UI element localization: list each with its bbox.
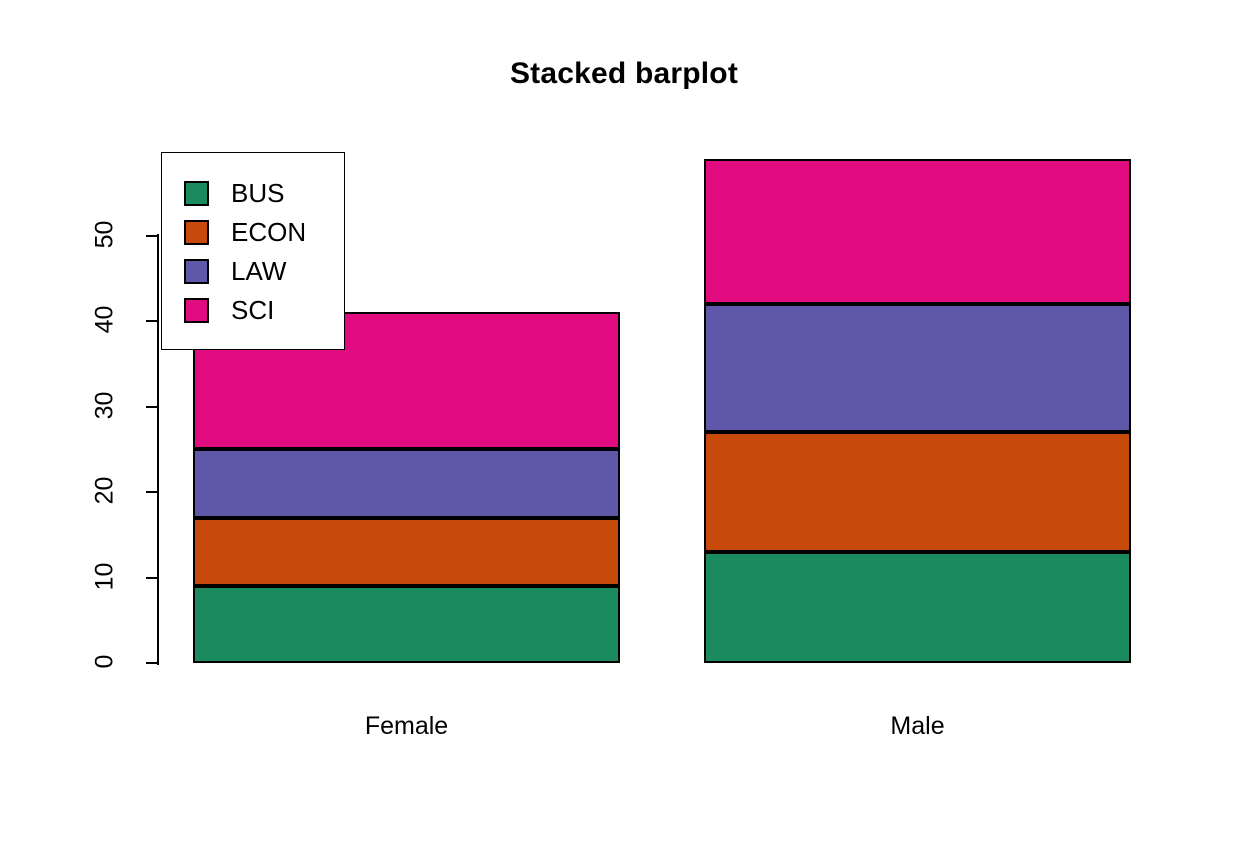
bar-segment-female-bus	[193, 586, 620, 663]
y-tick-label-20: 20	[91, 471, 120, 511]
y-tick-40	[146, 320, 157, 322]
bar-segment-male-bus	[704, 552, 1131, 663]
legend-item-econ[interactable]: ECON	[184, 212, 306, 252]
y-axis-line	[157, 234, 159, 665]
y-tick-50	[146, 235, 157, 237]
legend-swatch-sci-icon	[184, 298, 209, 323]
legend-label-econ: ECON	[231, 219, 306, 245]
y-tick-30	[146, 406, 157, 408]
x-axis-label-female: Female	[193, 712, 620, 741]
y-tick-label-0: 0	[91, 642, 120, 682]
legend: BUSECONLAWSCI	[161, 152, 345, 350]
y-tick-label-10: 10	[91, 556, 120, 596]
legend-item-law[interactable]: LAW	[184, 251, 286, 291]
y-tick-label-50: 50	[91, 214, 120, 254]
legend-label-bus: BUS	[231, 180, 284, 206]
legend-swatch-law-icon	[184, 259, 209, 284]
legend-item-sci[interactable]: SCI	[184, 290, 274, 330]
bar-segment-female-econ	[193, 518, 620, 586]
x-axis-label-male: Male	[704, 712, 1131, 741]
y-tick-0	[146, 662, 157, 664]
stacked-barplot-figure: Stacked barplot 01020304050 FemaleMale B…	[0, 0, 1248, 864]
legend-swatch-bus-icon	[184, 181, 209, 206]
bar-segment-male-econ	[704, 432, 1131, 552]
bar-segment-male-law	[704, 304, 1131, 432]
legend-label-sci: SCI	[231, 297, 274, 323]
y-tick-label-30: 30	[91, 385, 120, 425]
bar-segment-male-sci	[704, 159, 1131, 304]
bar-segment-female-law	[193, 449, 620, 517]
legend-label-law: LAW	[231, 258, 286, 284]
legend-item-bus[interactable]: BUS	[184, 173, 284, 213]
legend-swatch-econ-icon	[184, 220, 209, 245]
y-tick-10	[146, 577, 157, 579]
y-tick-20	[146, 491, 157, 493]
y-tick-label-40: 40	[91, 300, 120, 340]
